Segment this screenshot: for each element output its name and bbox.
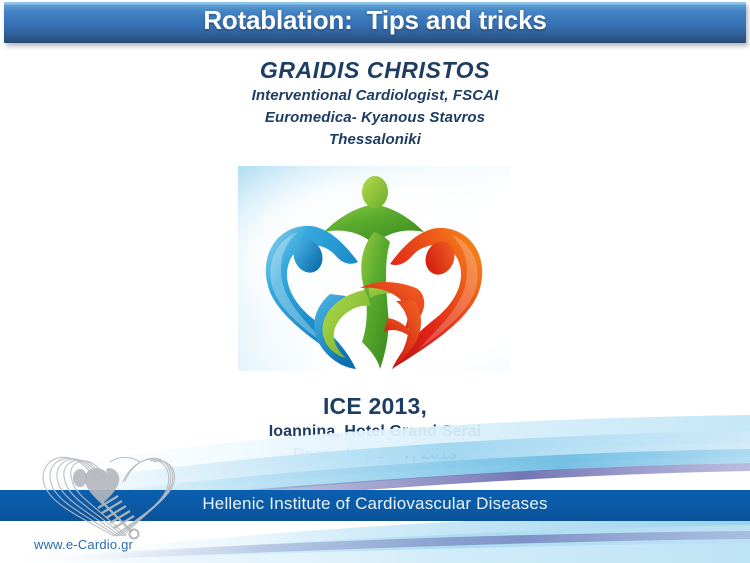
event-title: ICE 2013,	[0, 392, 750, 420]
e-cardio-heart-stethoscope-logo	[22, 452, 182, 542]
presentation-slide: Rotablation: Tips and tricks GRAIDIS CHR…	[0, 0, 750, 563]
heart-people-logo	[238, 166, 510, 371]
e-cardio-watermark: www.e-Cardio.gr	[22, 452, 182, 563]
slide-title-banner: Rotablation: Tips and tricks	[4, 2, 746, 43]
presenter-affiliation-line-2: Euromedica- Kyanous Stavros	[0, 107, 750, 129]
event-venue: Ioannina, Hotel Grand Serai	[0, 420, 750, 443]
presenter-affiliation-line-3: Thessaloniki	[0, 129, 750, 151]
presenter-block: GRAIDIS CHRISTOS Interventional Cardiolo…	[0, 55, 750, 151]
watermark-url-text: www.e-Cardio.gr	[34, 537, 133, 552]
presenter-affiliation-line-1: Interventional Cardiologist, FSCAI	[0, 85, 750, 107]
presenter-name: GRAIDIS CHRISTOS	[0, 55, 750, 85]
slide-title: Rotablation: Tips and tricks	[4, 5, 746, 36]
